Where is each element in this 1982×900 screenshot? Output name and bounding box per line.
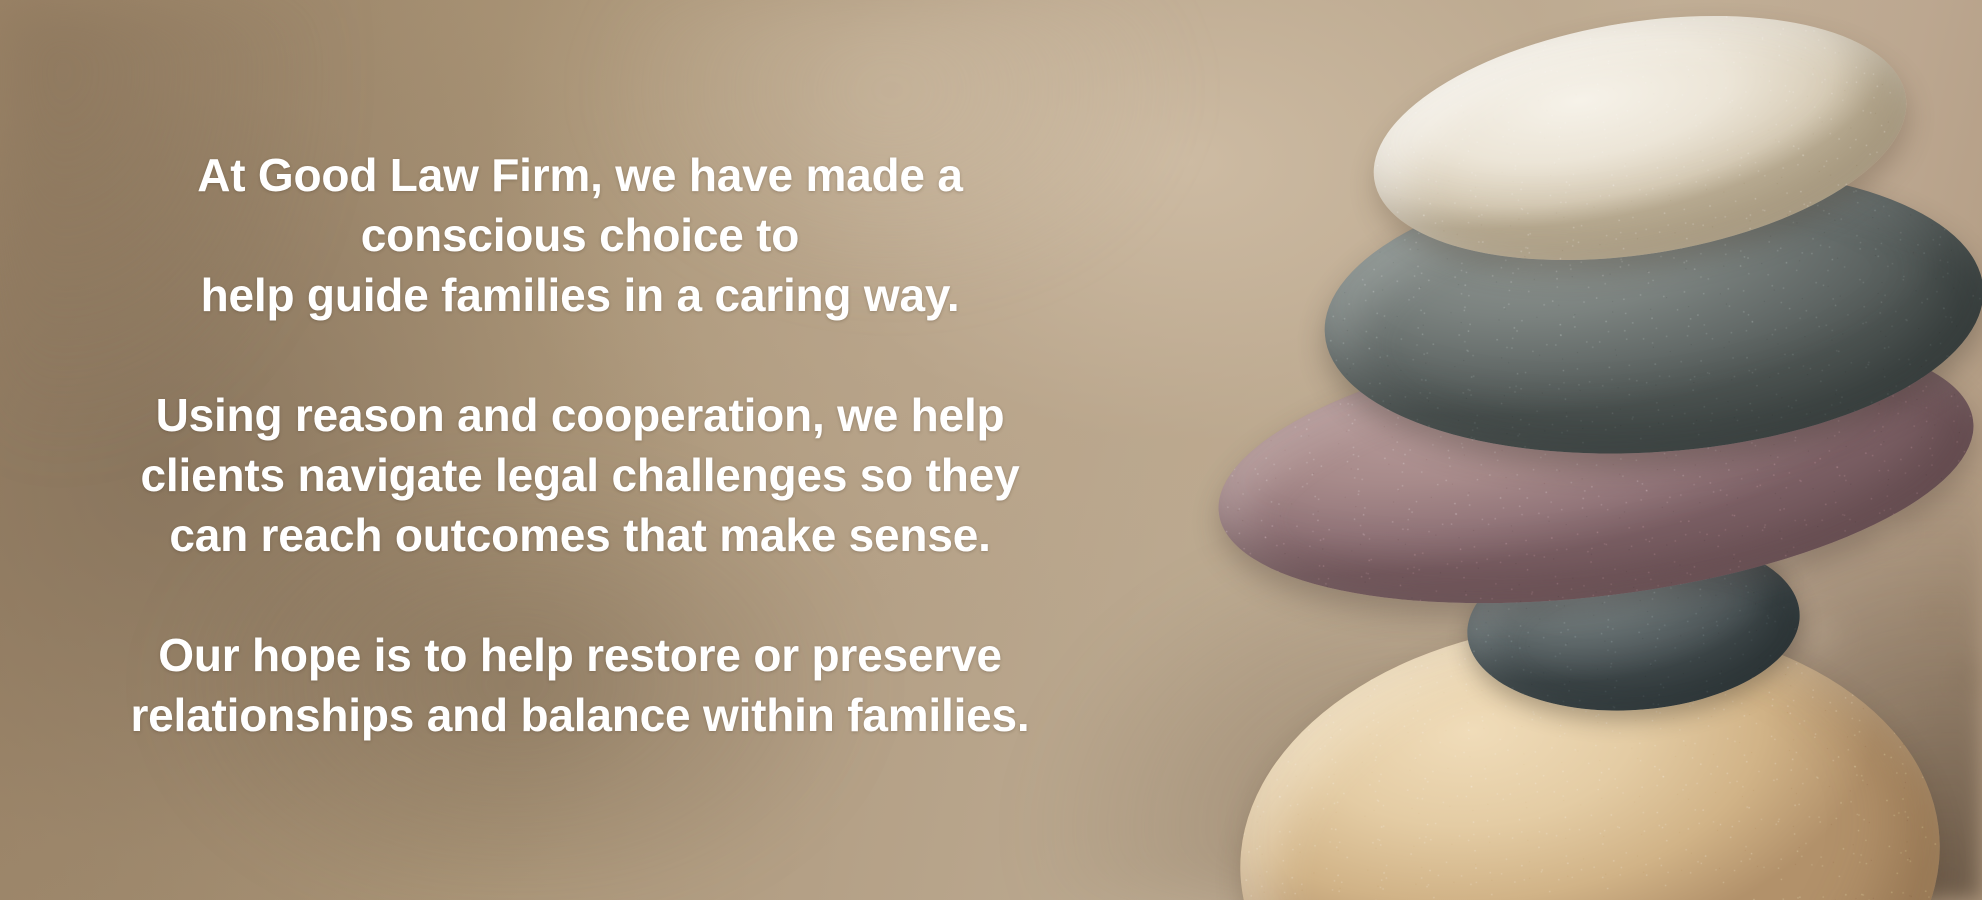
paragraph-hope: Our hope is to help restore or preserve … (40, 625, 1120, 745)
copy-line: relationships and balance within familie… (40, 685, 1120, 745)
copy-line: At Good Law Firm, we have made a (40, 145, 1120, 205)
copy-line: Using reason and cooperation, we help (40, 385, 1120, 445)
copy-line: Our hope is to help restore or preserve (40, 625, 1120, 685)
hero-banner: At Good Law Firm, we have made a conscio… (0, 0, 1982, 900)
paragraph-intro: At Good Law Firm, we have made a conscio… (40, 145, 1120, 325)
copy-line: clients navigate legal challenges so the… (40, 445, 1120, 505)
copy-line: conscious choice to (40, 205, 1120, 265)
copy-line: help guide families in a caring way. (40, 265, 1120, 325)
banner-copy-panel: At Good Law Firm, we have made a conscio… (0, 0, 1160, 900)
banner-copy: At Good Law Firm, we have made a conscio… (40, 145, 1120, 745)
copy-line: can reach outcomes that make sense. (40, 505, 1120, 565)
paragraph-approach: Using reason and cooperation, we help cl… (40, 385, 1120, 565)
